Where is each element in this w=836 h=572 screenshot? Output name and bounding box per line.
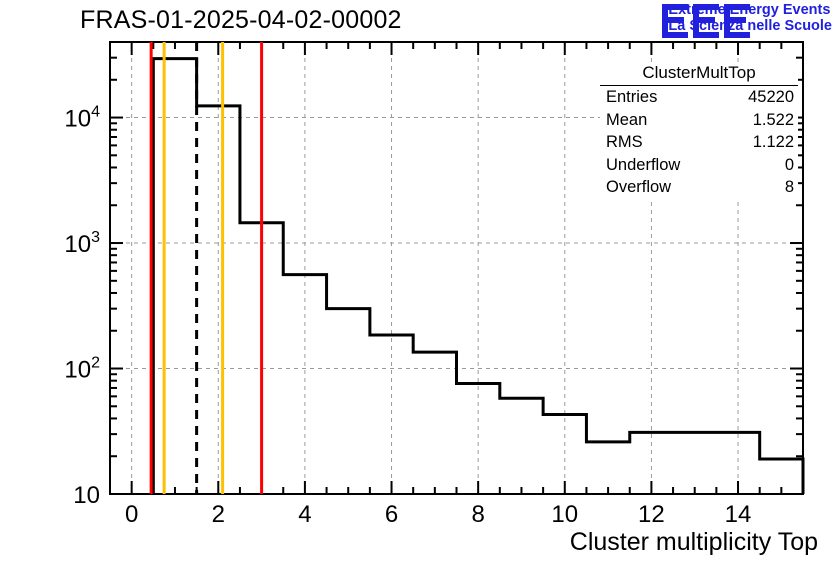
stats-row: Mean1.522 xyxy=(600,109,798,132)
stats-row-value: 45220 xyxy=(748,89,794,106)
stats-row-key: Overflow xyxy=(606,179,671,196)
x-axis-tick-label: 10 xyxy=(551,501,578,528)
stats-row-key: Entries xyxy=(606,89,657,106)
x-axis-tick-label: 4 xyxy=(298,501,311,528)
x-axis-tick-label: 14 xyxy=(725,501,752,528)
y-axis-tick-label: 102 xyxy=(64,355,100,384)
x-axis-tick-label: 12 xyxy=(638,501,665,528)
x-axis-title: Cluster multiplicity Top xyxy=(570,528,818,557)
stats-title: ClusterMultTop xyxy=(600,62,798,86)
x-axis-tick-label: 0 xyxy=(125,501,138,528)
stats-row-key: RMS xyxy=(606,134,643,151)
stats-box: ClusterMultTop Entries45220Mean1.522RMS1… xyxy=(600,62,798,199)
stats-row-key: Mean xyxy=(606,112,647,129)
stats-row: Underflow0 xyxy=(600,154,798,177)
x-axis-tick-label: 6 xyxy=(385,501,398,528)
stats-row-value: 1.522 xyxy=(753,112,794,129)
y-axis-tick-label: 10 xyxy=(73,482,100,509)
stats-row: Entries45220 xyxy=(600,86,798,109)
stats-row-value: 8 xyxy=(785,179,794,196)
stats-row-value: 0 xyxy=(785,157,794,174)
x-axis-tick-label: 8 xyxy=(471,501,484,528)
x-axis-tick-label: 2 xyxy=(212,501,225,528)
y-axis-tick-label: 104 xyxy=(64,104,100,133)
y-axis-tick-label: 103 xyxy=(64,229,100,258)
stats-row-key: Underflow xyxy=(606,157,680,174)
stats-row: Overflow8 xyxy=(600,176,798,199)
stats-row-value: 1.122 xyxy=(753,134,794,151)
stats-row: RMS1.122 xyxy=(600,131,798,154)
stats-rows: Entries45220Mean1.522RMS1.122Underflow0O… xyxy=(600,86,798,199)
